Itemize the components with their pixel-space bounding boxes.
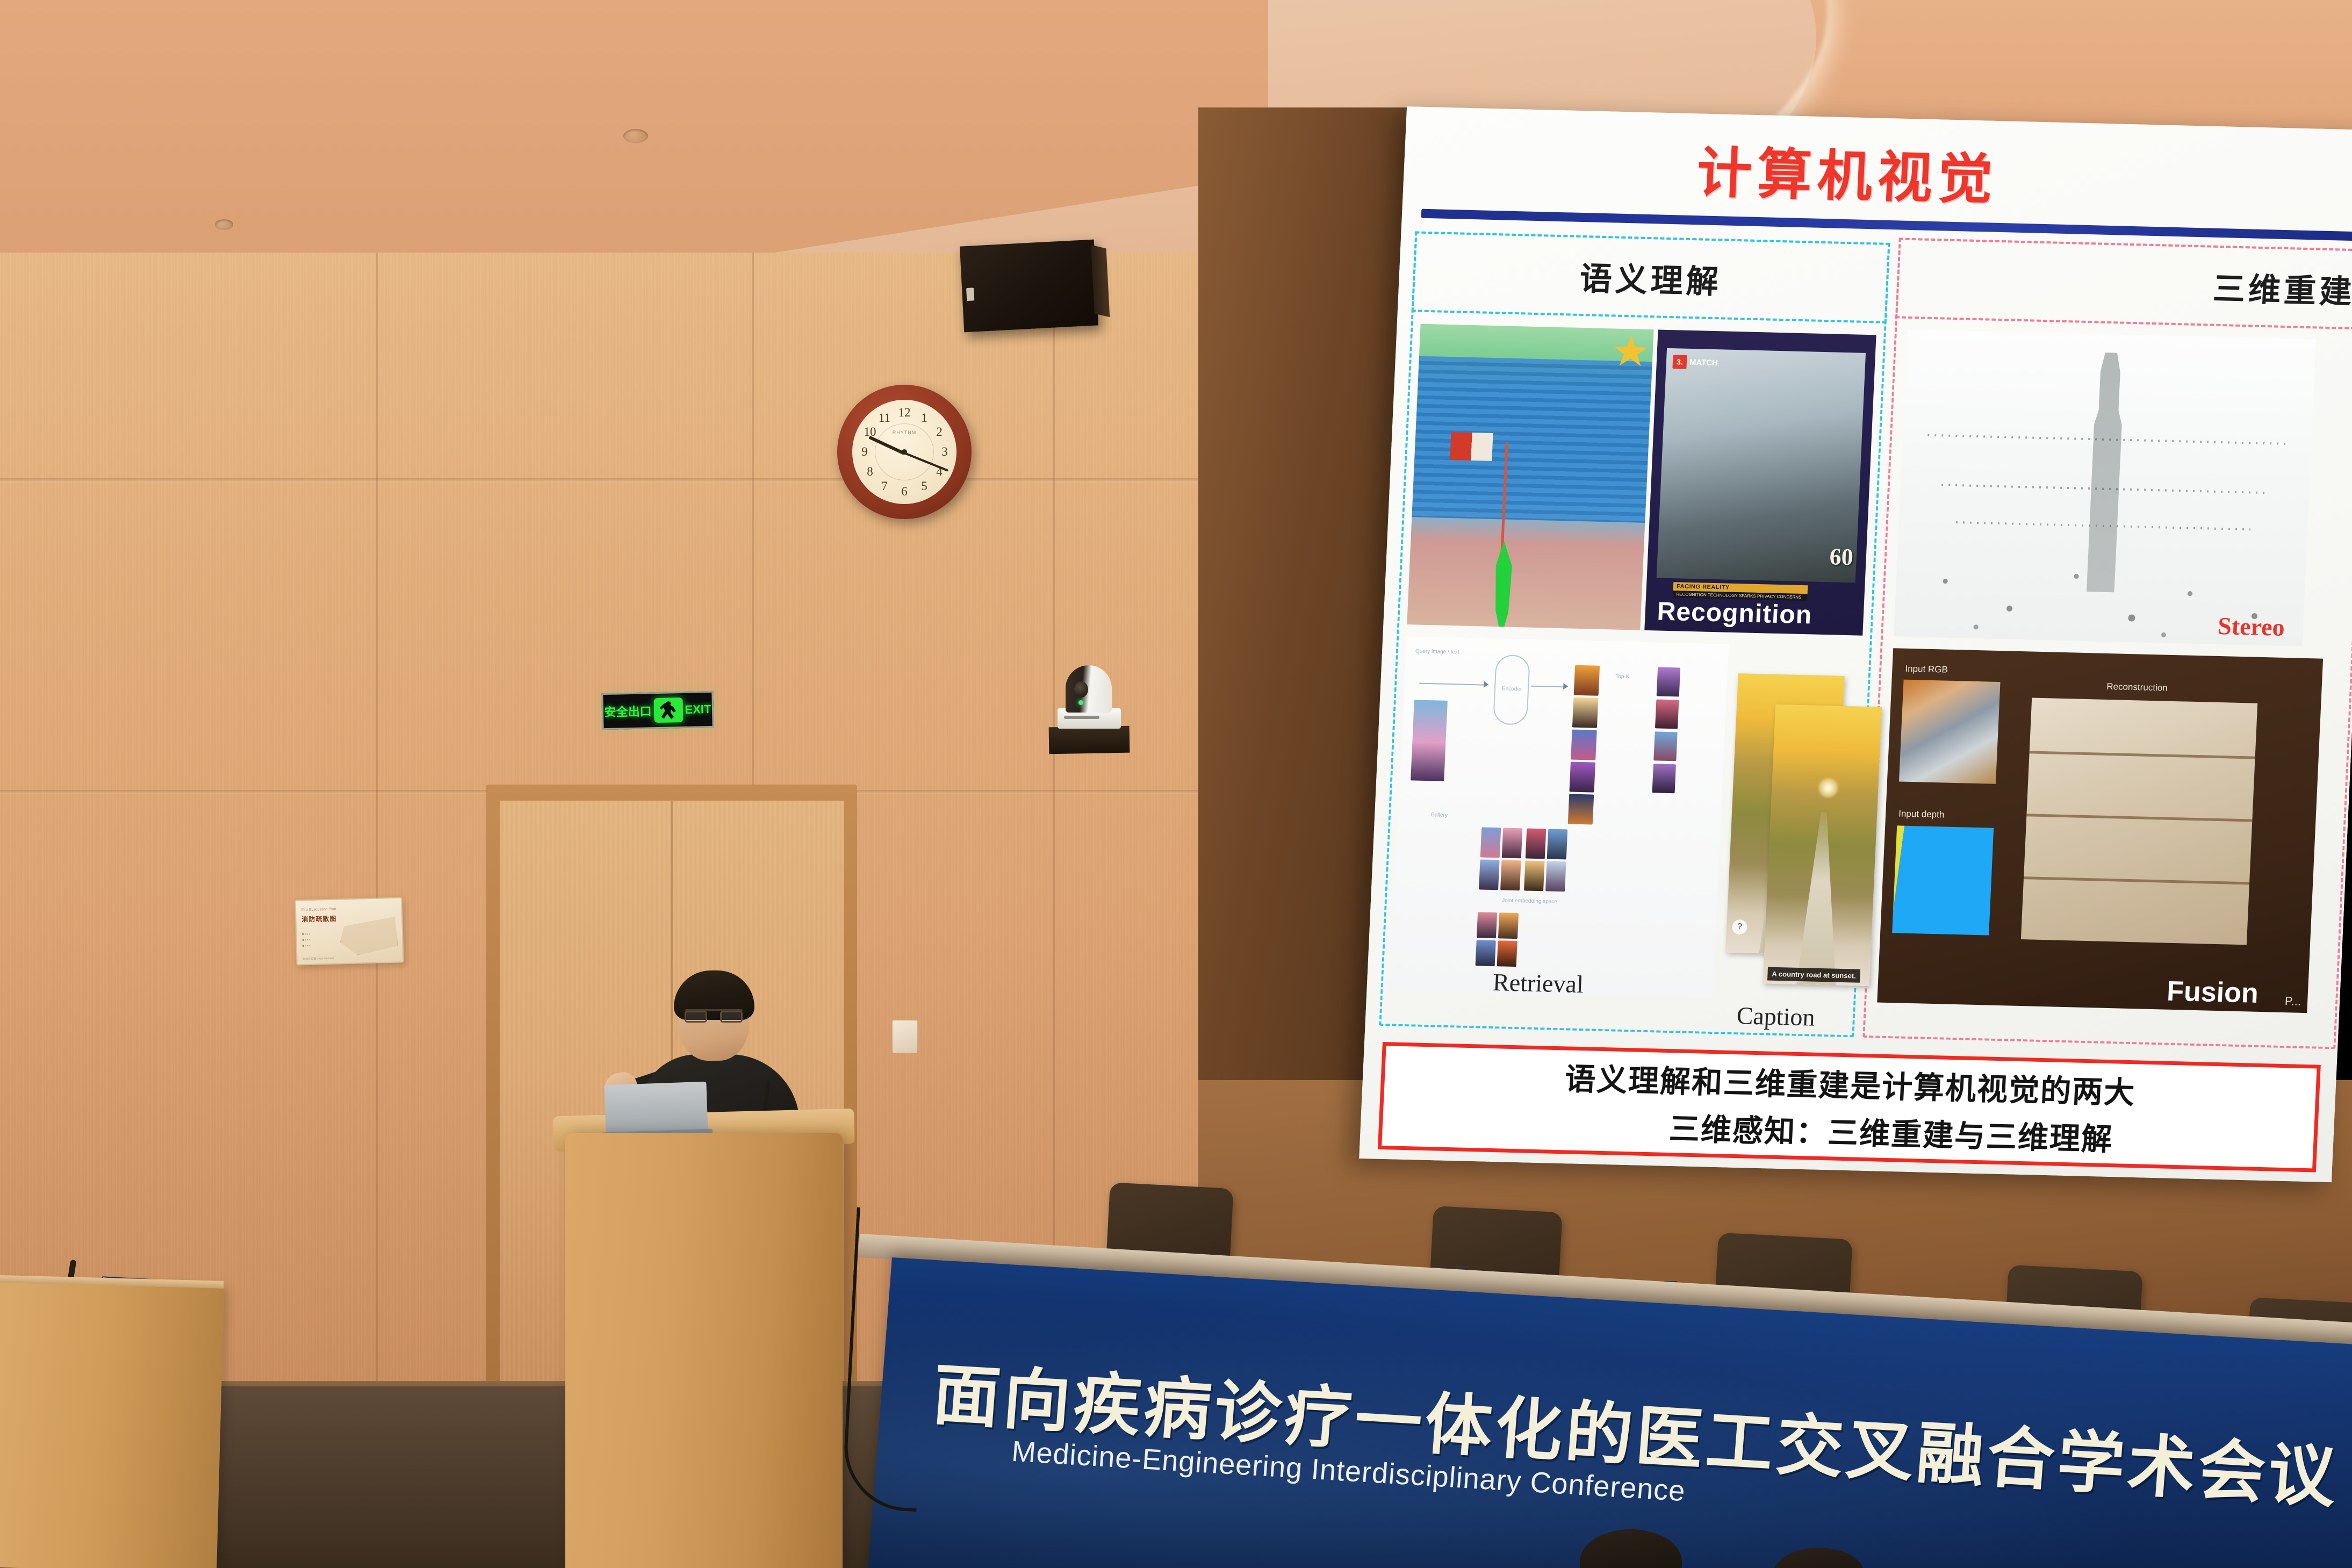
conference-room-photo: RHYTHM 12 1 2 3 4 5 6 7 8 9 10 11 安全出口 E…	[0, 0, 2352, 1568]
fusion-label-suffix: P...	[2284, 994, 2301, 1009]
input-rgb-label: Input RGB	[1905, 664, 1948, 675]
flag-segment	[1450, 432, 1493, 461]
exit-sign-label-cn: 安全出口	[604, 702, 652, 720]
conclusion-box: 语义理解和三维重建是计算机视觉的两大 三维感知：三维重建与三维理解	[1378, 1042, 2321, 1172]
glasses-icon	[685, 1009, 743, 1021]
input-depth-thumbnail	[1892, 825, 1994, 935]
clock-tower-pointcloud	[2076, 352, 2136, 593]
recognition-counter: 60	[1829, 543, 1854, 571]
glasses-left-lens	[685, 1011, 707, 1023]
camera-lens-icon	[1074, 681, 1088, 697]
road-shape	[1793, 811, 1847, 986]
retrieval-diagram-term: Gallery	[1430, 812, 1448, 818]
recognition-example-image: 3. MATCH 60 FACING REALITY RECOGNITION T…	[1644, 329, 1876, 635]
ranked-thumbnail	[1652, 764, 1676, 793]
shelf-line	[2026, 814, 2252, 822]
gallery-thumbnail	[1545, 861, 1566, 891]
clock-numeral: 3	[937, 445, 953, 459]
ranked-thumbnail	[1657, 667, 1680, 696]
clock-center-pin	[902, 449, 907, 455]
ptz-camera-vent	[1064, 716, 1099, 719]
light-switch[interactable]	[892, 1020, 918, 1053]
emergency-exit-sign: 安全出口 EXIT	[601, 691, 714, 730]
clock-numeral: 9	[857, 445, 873, 459]
evacuation-plan-title-cn: 消防疏散图	[301, 914, 336, 924]
gallery-thumbnail	[1480, 828, 1501, 858]
stereo-label: Stereo	[2217, 612, 2285, 642]
podium-cable	[841, 1207, 932, 1512]
clock-numeral: 2	[931, 425, 947, 439]
caption-text: A country road at sunset.	[1767, 967, 1860, 983]
match-badge-number: 3.	[1672, 355, 1687, 369]
gallery-thumbnail	[1502, 828, 1523, 858]
camera-wall-bracket	[1049, 726, 1130, 754]
slide-title: 计算机视觉	[1402, 121, 2352, 224]
clock-numeral: 6	[896, 485, 912, 499]
result-thumbnail	[1569, 762, 1595, 793]
segmentation-example-image	[1407, 324, 1653, 630]
fire-evacuation-plan: Fire Evacuation Plan 消防疏散图 ■ ▪ ▪ ▪■ ▪ ▪ …	[294, 897, 404, 965]
clock-face: RHYTHM 12 1 2 3 4 5 6 7 8 9 10 11	[852, 400, 956, 504]
speaker-badge	[966, 287, 974, 301]
clock-numeral: 7	[876, 479, 893, 493]
diagram-arrow-icon	[1484, 681, 1489, 688]
sun-glow	[1818, 778, 1839, 798]
shelf-line	[2030, 751, 2255, 759]
gallery-thumbnail	[1498, 912, 1519, 939]
diagram-connector	[1419, 683, 1484, 686]
camera-status-led	[1078, 700, 1083, 705]
result-thumbnail	[1572, 697, 1599, 728]
gallery-thumbnail	[1479, 859, 1500, 890]
evacuation-floor-map	[339, 917, 398, 956]
gallery-thumbnail	[1497, 940, 1517, 967]
evacuation-plan-footer: 您所在位置 / You Are Here	[303, 956, 334, 961]
clock-numeral: 8	[862, 465, 878, 479]
clock-numeral: 1	[916, 411, 932, 425]
gallery-thumbnail	[1547, 829, 1568, 860]
captioning-example-image: ? A country road at sunset.	[1723, 673, 1867, 1002]
clock-numeral: 11	[876, 411, 893, 425]
retrieval-diagram-term: Encoder	[1502, 686, 1522, 692]
fusion-label: Fusion	[2166, 975, 2259, 1010]
fusion-example-image: Input RGB Input depth Reconstruction Fus…	[1877, 648, 2323, 1013]
caption-badge-icon: ?	[1732, 919, 1747, 935]
input-depth-label: Input depth	[1898, 808, 1945, 820]
gallery-thumbnail	[1524, 861, 1545, 891]
glasses-right-lens	[720, 1011, 743, 1023]
wall-panel-seam	[0, 478, 1252, 483]
gallery-thumbnail	[1477, 912, 1497, 938]
diagram-connector	[1531, 686, 1563, 687]
recognition-label: Recognition	[1657, 596, 1813, 630]
result-thumbnail	[1571, 730, 1597, 760]
downlight-icon	[215, 219, 233, 230]
evacuation-plan-title-en: Fire Evacuation Plan	[301, 908, 336, 912]
exit-sign-label-en: EXIT	[685, 702, 711, 717]
left-desk	[0, 1282, 224, 1568]
retrieval-diagram-term: Query image / text	[1415, 648, 1459, 655]
presentation-slide: 计算机视觉 语义理解 三维重建 3. MATCH 60	[1359, 106, 2352, 1182]
retrieval-diagram-term: Top-K	[1615, 674, 1630, 680]
clock-numeral: 12	[896, 406, 912, 420]
wall-clock: RHYTHM 12 1 2 3 4 5 6 7 8 9 10 11	[837, 385, 972, 519]
semantic-understanding-header: 语义理解	[1412, 231, 1890, 323]
ptz-camera	[1066, 665, 1112, 713]
ranked-thumbnail	[1655, 699, 1679, 729]
green-segmentation-mask	[1487, 541, 1519, 630]
result-thumbnail	[1568, 794, 1594, 824]
evacuation-plan-legend: ■ ▪ ▪ ▪■ ▪ ▪ ▪■ ▪ ▪ ▪	[302, 932, 311, 950]
input-rgb-thumbnail	[1899, 680, 2001, 784]
wall-panel-seam	[1053, 253, 1055, 1413]
gallery-thumbnail	[1476, 940, 1496, 966]
reconstruction-render	[2021, 698, 2257, 945]
caption-result-image: A country road at sunset.	[1763, 704, 1882, 986]
downlight-icon	[623, 129, 648, 143]
query-thumbnail	[1411, 700, 1448, 781]
reconstruction-label: Reconstruction	[2106, 681, 2168, 694]
shelf-line	[2024, 876, 2249, 884]
projection-screen: 计算机视觉 语义理解 三维重建 3. MATCH 60	[1359, 106, 2352, 1182]
match-badge-label: MATCH	[1689, 357, 1718, 367]
laptop[interactable]	[604, 1082, 708, 1137]
wall-speaker	[960, 240, 1098, 333]
gallery-thumbnail	[1526, 829, 1547, 859]
diagram-arrow-icon	[1563, 683, 1569, 689]
wall-panel-seam	[376, 253, 378, 1413]
clock-numeral: 5	[916, 479, 932, 493]
ranked-thumbnail	[1653, 731, 1677, 761]
three-d-reconstruction-header: 三维重建	[1895, 238, 2352, 329]
running-person-icon	[653, 697, 683, 723]
conclusion-line-2: 三维感知：三维重建与三维理解	[1583, 1102, 2114, 1159]
podium	[565, 1133, 843, 1568]
gallery-thumbnail	[1500, 860, 1521, 890]
match-badge: 3. MATCH	[1672, 355, 1718, 370]
stadium-seats	[1412, 356, 1652, 523]
result-thumbnail	[1574, 665, 1600, 696]
caption-label: Caption	[1736, 1001, 1816, 1032]
retrieval-diagram-term: Joint embedding space	[1502, 897, 1557, 905]
stereo-example-image: Stereo	[1894, 329, 2316, 646]
retrieval-diagram-image: Query image / text Encoder Top-K Gallery	[1390, 636, 1729, 998]
